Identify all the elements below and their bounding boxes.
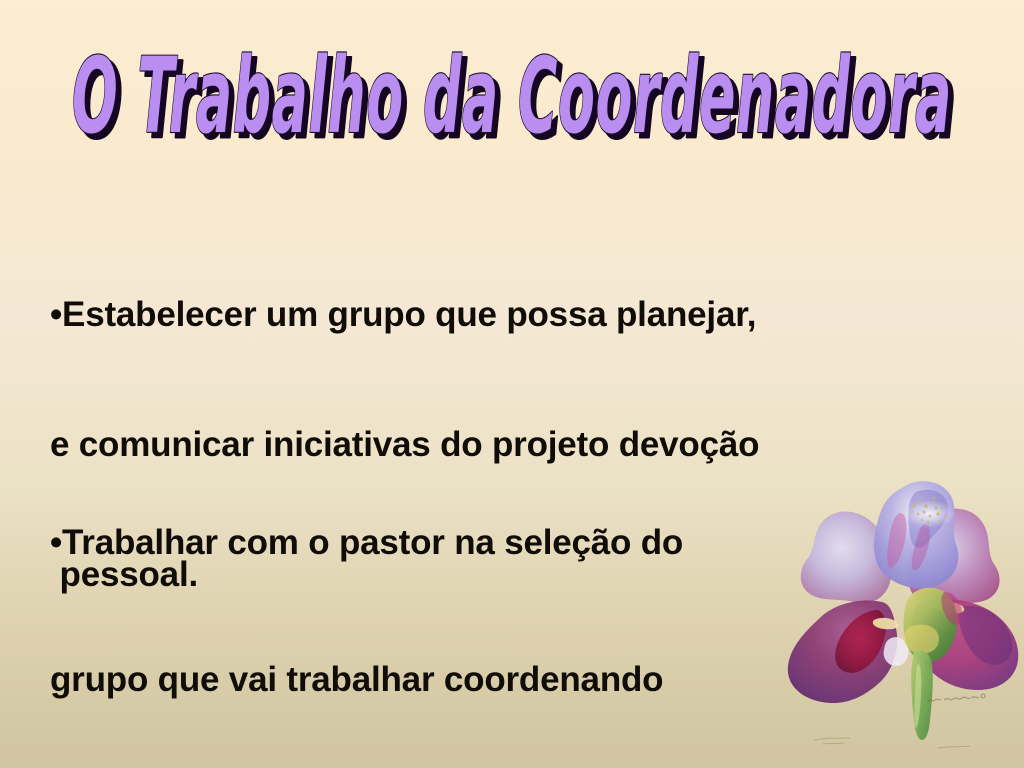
iris-beard-speckles [911,497,948,524]
iris-petal-white-accent [884,637,909,666]
iris-petal-center-pink-streak [887,513,906,568]
iris-style-arm-left [873,618,899,629]
iris-svg [778,452,1024,768]
iris-petal-upper-right [907,509,999,606]
iris-petal-center-pink-streak-2 [912,524,930,570]
iris-petal-fall-right-shade [959,606,1012,665]
slide-canvas: O Trabalho da Coordenadora O Trabalho da… [0,0,1024,768]
iris-petal-fall-left [788,601,897,703]
iris-petal-center [874,481,958,588]
iris-style-arm-right [934,602,965,614]
artist-signature [928,694,985,702]
iris-beard-highlight [904,500,956,528]
iris-petal-center-blue-wash [908,490,948,548]
iris-petal-fall-right [913,599,1019,690]
iris-ground-marks [814,738,970,748]
bullet-1-line-1: •Estabelecer um grupo que possa planejar… [50,290,759,340]
page-title: O Trabalho da Coordenadora O Trabalho da… [0,38,1024,168]
title-wordart-svg: O Trabalho da Coordenadora O Trabalho da… [62,44,962,162]
bullet-block-2: •Trabalhar com o pastor na seleção do gr… [50,434,683,768]
iris-petal-upper-left [801,511,892,603]
iris-bud-magenta-edge [942,592,962,625]
iris-stem-highlight [914,664,921,728]
iris-bud [904,588,958,662]
iris-stem [911,650,933,740]
bullet-2-line-1: •Trabalhar com o pastor na seleção do [50,514,683,571]
bullet-2-line-2: grupo que vai trabalhar coordenando [50,651,683,708]
iris-watercolor-illustration [778,452,1024,768]
title-face-text: O Trabalho da Coordenadora [72,35,952,157]
iris-petal-fall-left-crimson [835,610,886,673]
title-shadow-text: O Trabalho da Coordenadora [77,40,957,162]
iris-bud-yellow-wash [904,625,939,654]
